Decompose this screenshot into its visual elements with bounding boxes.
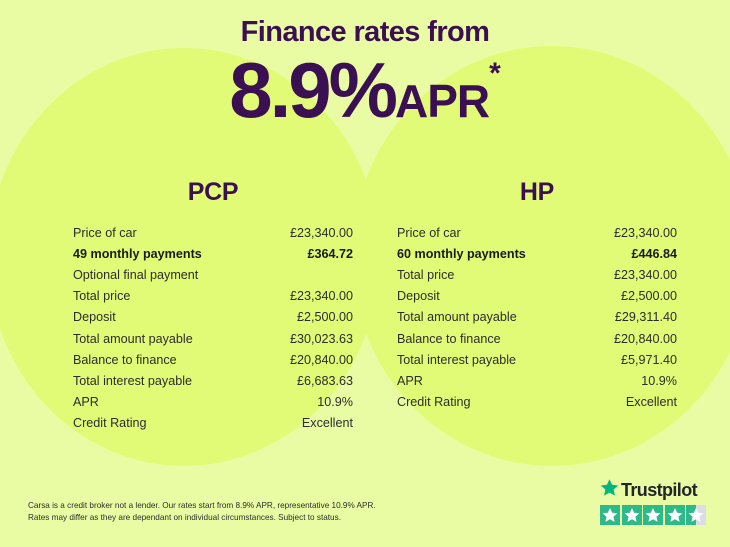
- row-value: £23,340.00: [290, 226, 353, 240]
- trustpilot-wordmark: Trustpilot: [600, 478, 712, 502]
- table-row: Total amount payable£30,023.63: [73, 328, 353, 349]
- row-value: Excellent: [302, 416, 353, 430]
- plan-title-pcp: PCP: [73, 178, 353, 207]
- row-label: Balance to finance: [73, 353, 177, 367]
- row-label: Deposit: [73, 310, 116, 324]
- page-title: Finance rates from: [0, 0, 730, 49]
- table-row: Price of car£23,340.00: [397, 222, 677, 243]
- row-label: Credit Rating: [73, 416, 147, 430]
- row-label: Credit Rating: [397, 395, 471, 409]
- row-label: Total interest payable: [73, 374, 192, 388]
- row-value: £23,340.00: [614, 226, 677, 240]
- trustpilot-name: Trustpilot: [621, 480, 697, 501]
- table-row: 49 monthly payments£364.72: [73, 243, 353, 264]
- row-label: Balance to finance: [397, 332, 501, 346]
- row-value: £364.72: [307, 247, 353, 261]
- legal-disclaimer: Carsa is a credit broker not a lender. O…: [28, 500, 458, 525]
- table-row: Total interest payable£5,971.40: [397, 349, 677, 370]
- rate-percentage: 8.9%: [229, 46, 395, 134]
- row-value: £20,840.00: [290, 353, 353, 367]
- row-value: £446.84: [631, 247, 677, 261]
- disclaimer-line-1: Carsa is a credit broker not a lender. O…: [28, 500, 458, 513]
- row-label: Total amount payable: [397, 310, 517, 324]
- plan-rows-pcp: Price of car£23,340.0049 monthly payment…: [73, 222, 353, 434]
- rate-asterisk: *: [489, 57, 501, 90]
- disclaimer-line-2: Rates may differ as they are dependant o…: [28, 512, 458, 525]
- rate-unit-apr: APR: [395, 75, 489, 127]
- row-label: 60 monthly payments: [397, 247, 526, 261]
- row-value: £23,340.00: [614, 268, 677, 282]
- row-label: Deposit: [397, 289, 440, 303]
- plan-column-hp: HP Price of car£23,340.0060 monthly paym…: [397, 178, 677, 413]
- table-row: Total price£23,340.00: [397, 264, 677, 285]
- row-value: £30,023.63: [290, 332, 353, 346]
- table-row: Total interest payable£6,683.63: [73, 370, 353, 391]
- table-row: Total amount payable£29,311.40: [397, 307, 677, 328]
- table-row: APR10.9%: [73, 392, 353, 413]
- table-row: Deposit£2,500.00: [397, 286, 677, 307]
- table-row: Balance to finance£20,840.00: [397, 328, 677, 349]
- row-label: 49 monthly payments: [73, 247, 202, 261]
- row-label: Price of car: [73, 226, 137, 240]
- row-label: Price of car: [397, 226, 461, 240]
- row-value: £5,971.40: [621, 353, 677, 367]
- table-row: Optional final payment: [73, 264, 353, 285]
- row-label: Total price: [73, 289, 130, 303]
- headline-rate: 8.9%APR*: [0, 49, 730, 129]
- trustpilot-rating-star: [600, 505, 620, 525]
- table-row: Price of car£23,340.00: [73, 222, 353, 243]
- plan-rows-hp: Price of car£23,340.0060 monthly payment…: [397, 222, 677, 413]
- trustpilot-rating-star: [643, 505, 663, 525]
- row-label: Total amount payable: [73, 332, 193, 346]
- row-label: APR: [397, 374, 423, 388]
- finance-rates-poster: Finance rates from 8.9%APR* PCP Price of…: [0, 0, 730, 547]
- row-label: Optional final payment: [73, 268, 198, 282]
- row-label: Total interest payable: [397, 353, 516, 367]
- header: Finance rates from 8.9%APR*: [0, 0, 730, 129]
- trustpilot-rating-star: [686, 505, 706, 525]
- table-row: Total price£23,340.00: [73, 286, 353, 307]
- row-value: £6,683.63: [297, 374, 353, 388]
- table-row: Deposit£2,500.00: [73, 307, 353, 328]
- table-row: 60 monthly payments£446.84: [397, 243, 677, 264]
- row-value: £23,340.00: [290, 289, 353, 303]
- row-value: £29,311.40: [615, 310, 677, 324]
- trustpilot-star-rating: [600, 505, 712, 525]
- trustpilot-badge[interactable]: Trustpilot: [600, 478, 712, 525]
- row-value: £2,500.00: [621, 289, 677, 303]
- trustpilot-rating-star: [665, 505, 685, 525]
- row-value: 10.9%: [317, 395, 353, 409]
- table-row: Credit RatingExcellent: [397, 392, 677, 413]
- row-value: £20,840.00: [614, 332, 677, 346]
- trustpilot-star-icon: [600, 478, 619, 502]
- row-label: APR: [73, 395, 99, 409]
- plan-column-pcp: PCP Price of car£23,340.0049 monthly pay…: [73, 178, 353, 434]
- row-value: Excellent: [626, 395, 677, 409]
- row-value: £2,500.00: [297, 310, 353, 324]
- table-row: Balance to finance£20,840.00: [73, 349, 353, 370]
- row-label: Total price: [397, 268, 454, 282]
- plan-title-hp: HP: [397, 178, 677, 207]
- trustpilot-rating-star: [622, 505, 642, 525]
- table-row: APR10.9%: [397, 370, 677, 391]
- row-value: 10.9%: [641, 374, 677, 388]
- table-row: Credit RatingExcellent: [73, 413, 353, 434]
